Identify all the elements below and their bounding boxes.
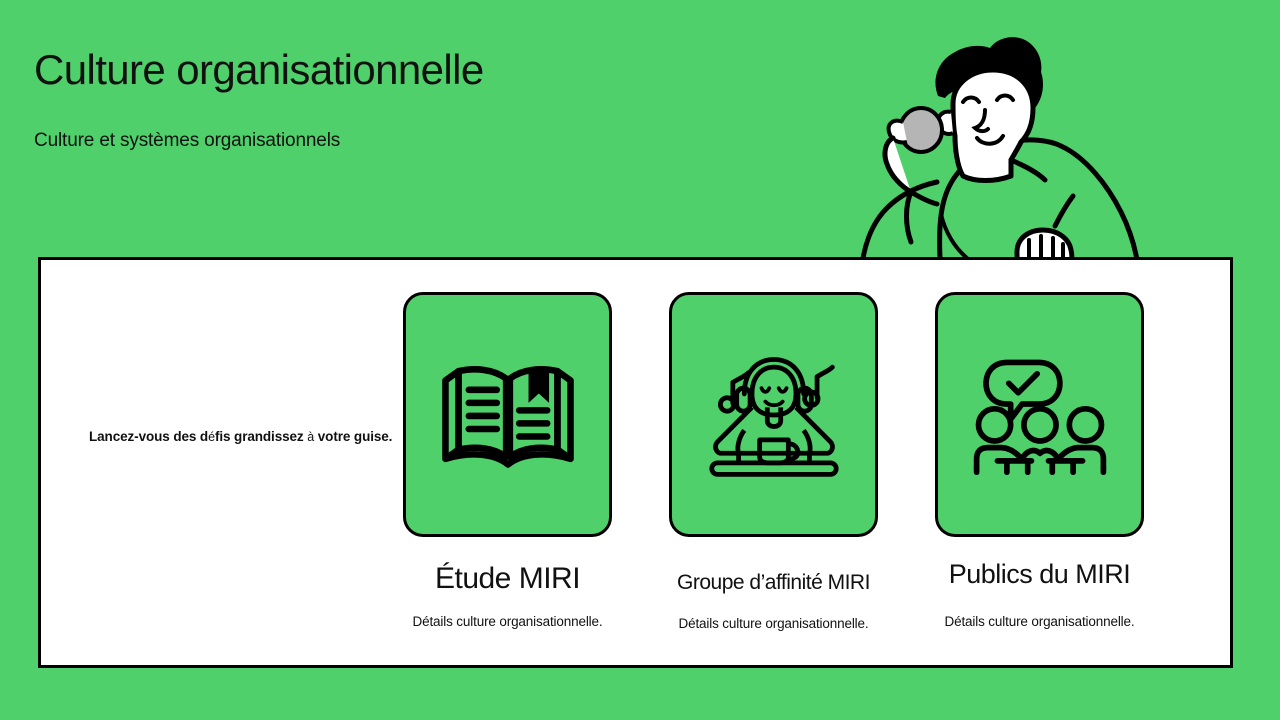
card-etude-miri[interactable]: Étude MIRI Détails culture organisationn… — [403, 292, 612, 631]
people-group-approved-icon — [969, 353, 1111, 476]
cards-row: Étude MIRI Détails culture organisationn… — [403, 292, 1203, 631]
intro-text-part-5: votre guise. — [314, 429, 392, 444]
page-subtitle: Culture et systèmes organisationnels — [34, 93, 794, 152]
intro-text-part-3: fis grandissez — [215, 429, 307, 444]
card-title-2: Groupe d’affinité MIRI — [677, 572, 870, 593]
card-groupe-affinite-miri[interactable]: Groupe d’affinité MIRI Détails culture o… — [669, 292, 878, 631]
page-title: Culture organisationnelle — [34, 46, 794, 93]
card-description-1: Détails culture organisationnelle. — [412, 614, 602, 629]
intro-text-accent-e: é — [208, 430, 215, 444]
card-tile-1[interactable] — [403, 292, 612, 537]
card-tile-3[interactable] — [935, 292, 1144, 537]
card-description-2: Détails culture organisationnelle. — [678, 616, 868, 631]
card-title-1: Étude MIRI — [435, 564, 580, 594]
intro-text: Lancez-vous des défis grandissez à votre… — [89, 428, 429, 446]
open-book-icon — [438, 354, 578, 476]
person-on-phone-illustration — [845, 26, 1155, 274]
content-panel: Lancez-vous des défis grandissez à votre… — [38, 257, 1233, 668]
slide-header: Culture organisationnelle Culture et sys… — [34, 46, 794, 152]
card-title-3: Publics du MIRI — [949, 561, 1131, 588]
card-publics-du-miri[interactable]: Publics du MIRI Détails culture organisa… — [935, 292, 1144, 631]
person-with-headphones-icon — [702, 348, 846, 482]
card-description-3: Détails culture organisationnelle. — [944, 614, 1134, 629]
card-tile-2[interactable] — [669, 292, 878, 537]
intro-text-part-1: Lancez-vous des d — [89, 429, 208, 444]
